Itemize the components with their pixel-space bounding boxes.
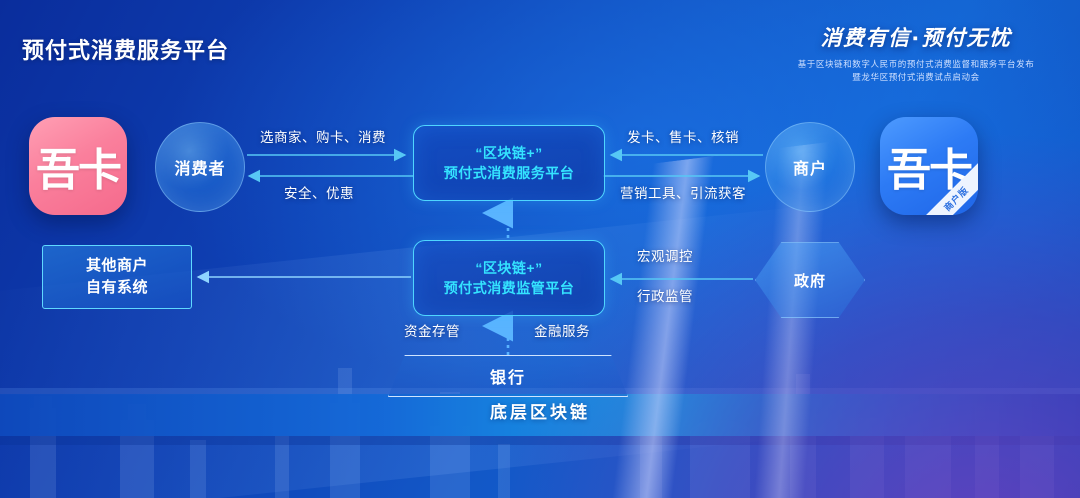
regulate-platform-line2: 预付式消费监管平台 <box>444 278 575 298</box>
flow-label-gov-macro-control: 宏观调控 <box>637 245 693 265</box>
flow-label-platform-to-merchant: 营销工具、引流获客 <box>620 182 746 202</box>
node-regulate-platform[interactable]: “区块链+” 预付式消费监管平台 <box>413 240 605 316</box>
other-merchant-line2: 自有系统 <box>86 277 148 299</box>
node-other-merchant-system[interactable]: 其他商户 自有系统 <box>42 245 192 309</box>
poster-canvas: 预付式消费服务平台 消费有信▪预付无忧 基于区块链和数字人民币的预付式消费监督和… <box>0 0 1080 498</box>
node-merchant[interactable]: 商户 <box>765 122 855 212</box>
slogan: 消费有信▪预付无忧 <box>786 22 1046 52</box>
service-platform-line2: 预付式消费服务平台 <box>444 163 575 183</box>
flow-label-consumer-to-platform: 选商家、购卡、消费 <box>260 126 386 146</box>
service-platform-line1: “区块链+” <box>475 143 542 163</box>
slogan-subtitle: 基于区块链和数字人民币的预付式消费监督和服务平台发布 暨龙华区预付式消费试点启动… <box>786 58 1046 84</box>
page-title: 预付式消费服务平台 <box>22 33 229 65</box>
node-government-label: 政府 <box>794 270 826 291</box>
flow-label-merchant-to-platform: 发卡、售卡、核销 <box>627 126 739 146</box>
flow-label-financial-service: 金融服务 <box>534 320 590 340</box>
node-bank[interactable]: 银行 <box>388 355 628 397</box>
band-shadow-bottom <box>0 436 1080 445</box>
node-merchant-label: 商户 <box>793 155 827 179</box>
slogan-left-text: 消费有信 <box>821 27 911 50</box>
flow-label-fund-custody: 资金存管 <box>404 320 460 340</box>
flow-label-gov-admin-supervision: 行政监管 <box>637 285 693 305</box>
node-bank-label: 银行 <box>490 364 526 388</box>
node-consumer-label: 消费者 <box>174 155 225 179</box>
slogan-right-text: 预付无忧 <box>921 27 1011 50</box>
wuka-logo-glyph: 吾卡 <box>29 117 127 215</box>
bottom-blockchain-label: 底层区块链 <box>0 398 1080 423</box>
wuka-merchant-app-icon[interactable]: 吾卡 商户版 <box>880 117 978 215</box>
node-service-platform[interactable]: “区块链+” 预付式消费服务平台 <box>413 125 605 201</box>
slogan-subtitle-line1: 基于区块链和数字人民币的预付式消费监督和服务平台发布 <box>786 58 1046 71</box>
node-consumer[interactable]: 消费者 <box>155 122 245 212</box>
slogan-block: 消费有信▪预付无忧 基于区块链和数字人民币的预付式消费监督和服务平台发布 暨龙华… <box>786 22 1046 84</box>
regulate-platform-line1: “区块链+” <box>475 258 542 278</box>
node-government[interactable]: 政府 <box>755 242 865 318</box>
flow-label-platform-to-consumer: 安全、优惠 <box>284 182 354 202</box>
slogan-dot-icon: ▪ <box>913 30 920 47</box>
other-merchant-line1: 其他商户 <box>86 255 148 277</box>
wuka-consumer-app-icon[interactable]: 吾卡 <box>29 117 127 215</box>
slogan-subtitle-line2: 暨龙华区预付式消费试点启动会 <box>786 71 1046 84</box>
